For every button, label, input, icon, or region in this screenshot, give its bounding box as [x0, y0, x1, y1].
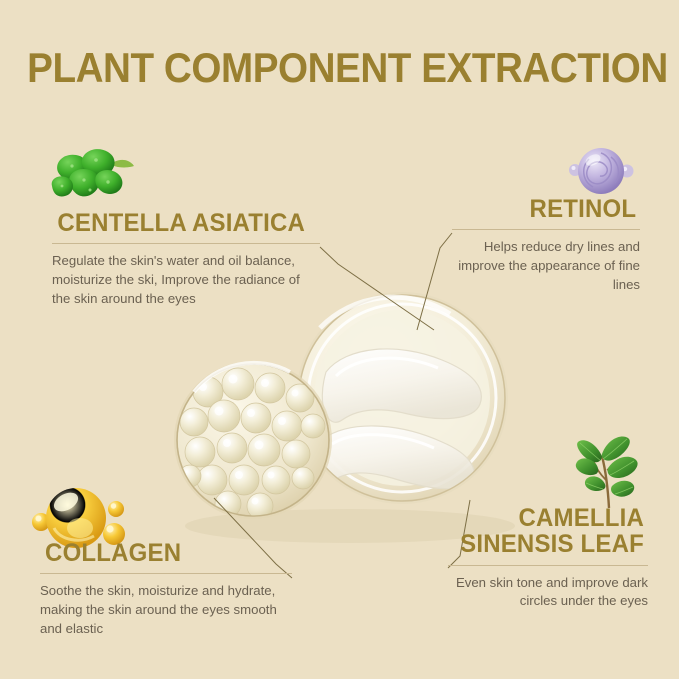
ingredient-heading-retinol: RETINOL	[456, 196, 636, 222]
ingredient-heading-camellia-line2: SINENSIS LEAF	[452, 531, 644, 557]
divider-collagen	[40, 573, 292, 574]
ingredient-callout-centella: CENTELLA ASIATICA Regulate the skin's wa…	[52, 210, 320, 308]
divider-retinol	[452, 229, 640, 230]
tea-leaf-sprig-icon	[572, 432, 646, 510]
ingredient-heading-camellia-line1: CAMELLIA	[452, 505, 644, 531]
ingredient-description-camellia: Even skin tone and improve dark circles …	[448, 574, 648, 611]
ingredient-description-collagen: Soothe the skin, moisturize and hydrate,…	[40, 582, 292, 638]
divider-centella	[52, 243, 320, 244]
infographic-canvas: PLANT COMPONENT EXTRACTION	[0, 0, 679, 679]
ingredient-callout-collagen: COLLAGEN Soothe the skin, moisturize and…	[40, 540, 292, 638]
divider-camellia	[448, 565, 648, 566]
ingredient-callout-camellia: CAMELLIA SINENSIS LEAF Even skin tone an…	[448, 505, 648, 611]
page-title: PLANT COMPONENT EXTRACTION	[27, 44, 652, 92]
ingredient-heading-centella: CENTELLA ASIATICA	[57, 210, 314, 236]
ingredient-callout-retinol: RETINOL Helps reduce dry lines and impro…	[452, 196, 640, 294]
ingredient-description-centella: Regulate the skin's water and oil balanc…	[52, 252, 320, 308]
ingredient-heading-collagen: COLLAGEN	[45, 540, 287, 566]
ingredient-description-retinol: Helps reduce dry lines and improve the a…	[452, 238, 640, 294]
glass-jar-with-gel-beads	[174, 361, 332, 519]
centella-leaves-icon	[44, 146, 140, 208]
glass-jar-with-eye-patches	[296, 292, 508, 504]
retinol-droplet-icon	[565, 143, 637, 201]
